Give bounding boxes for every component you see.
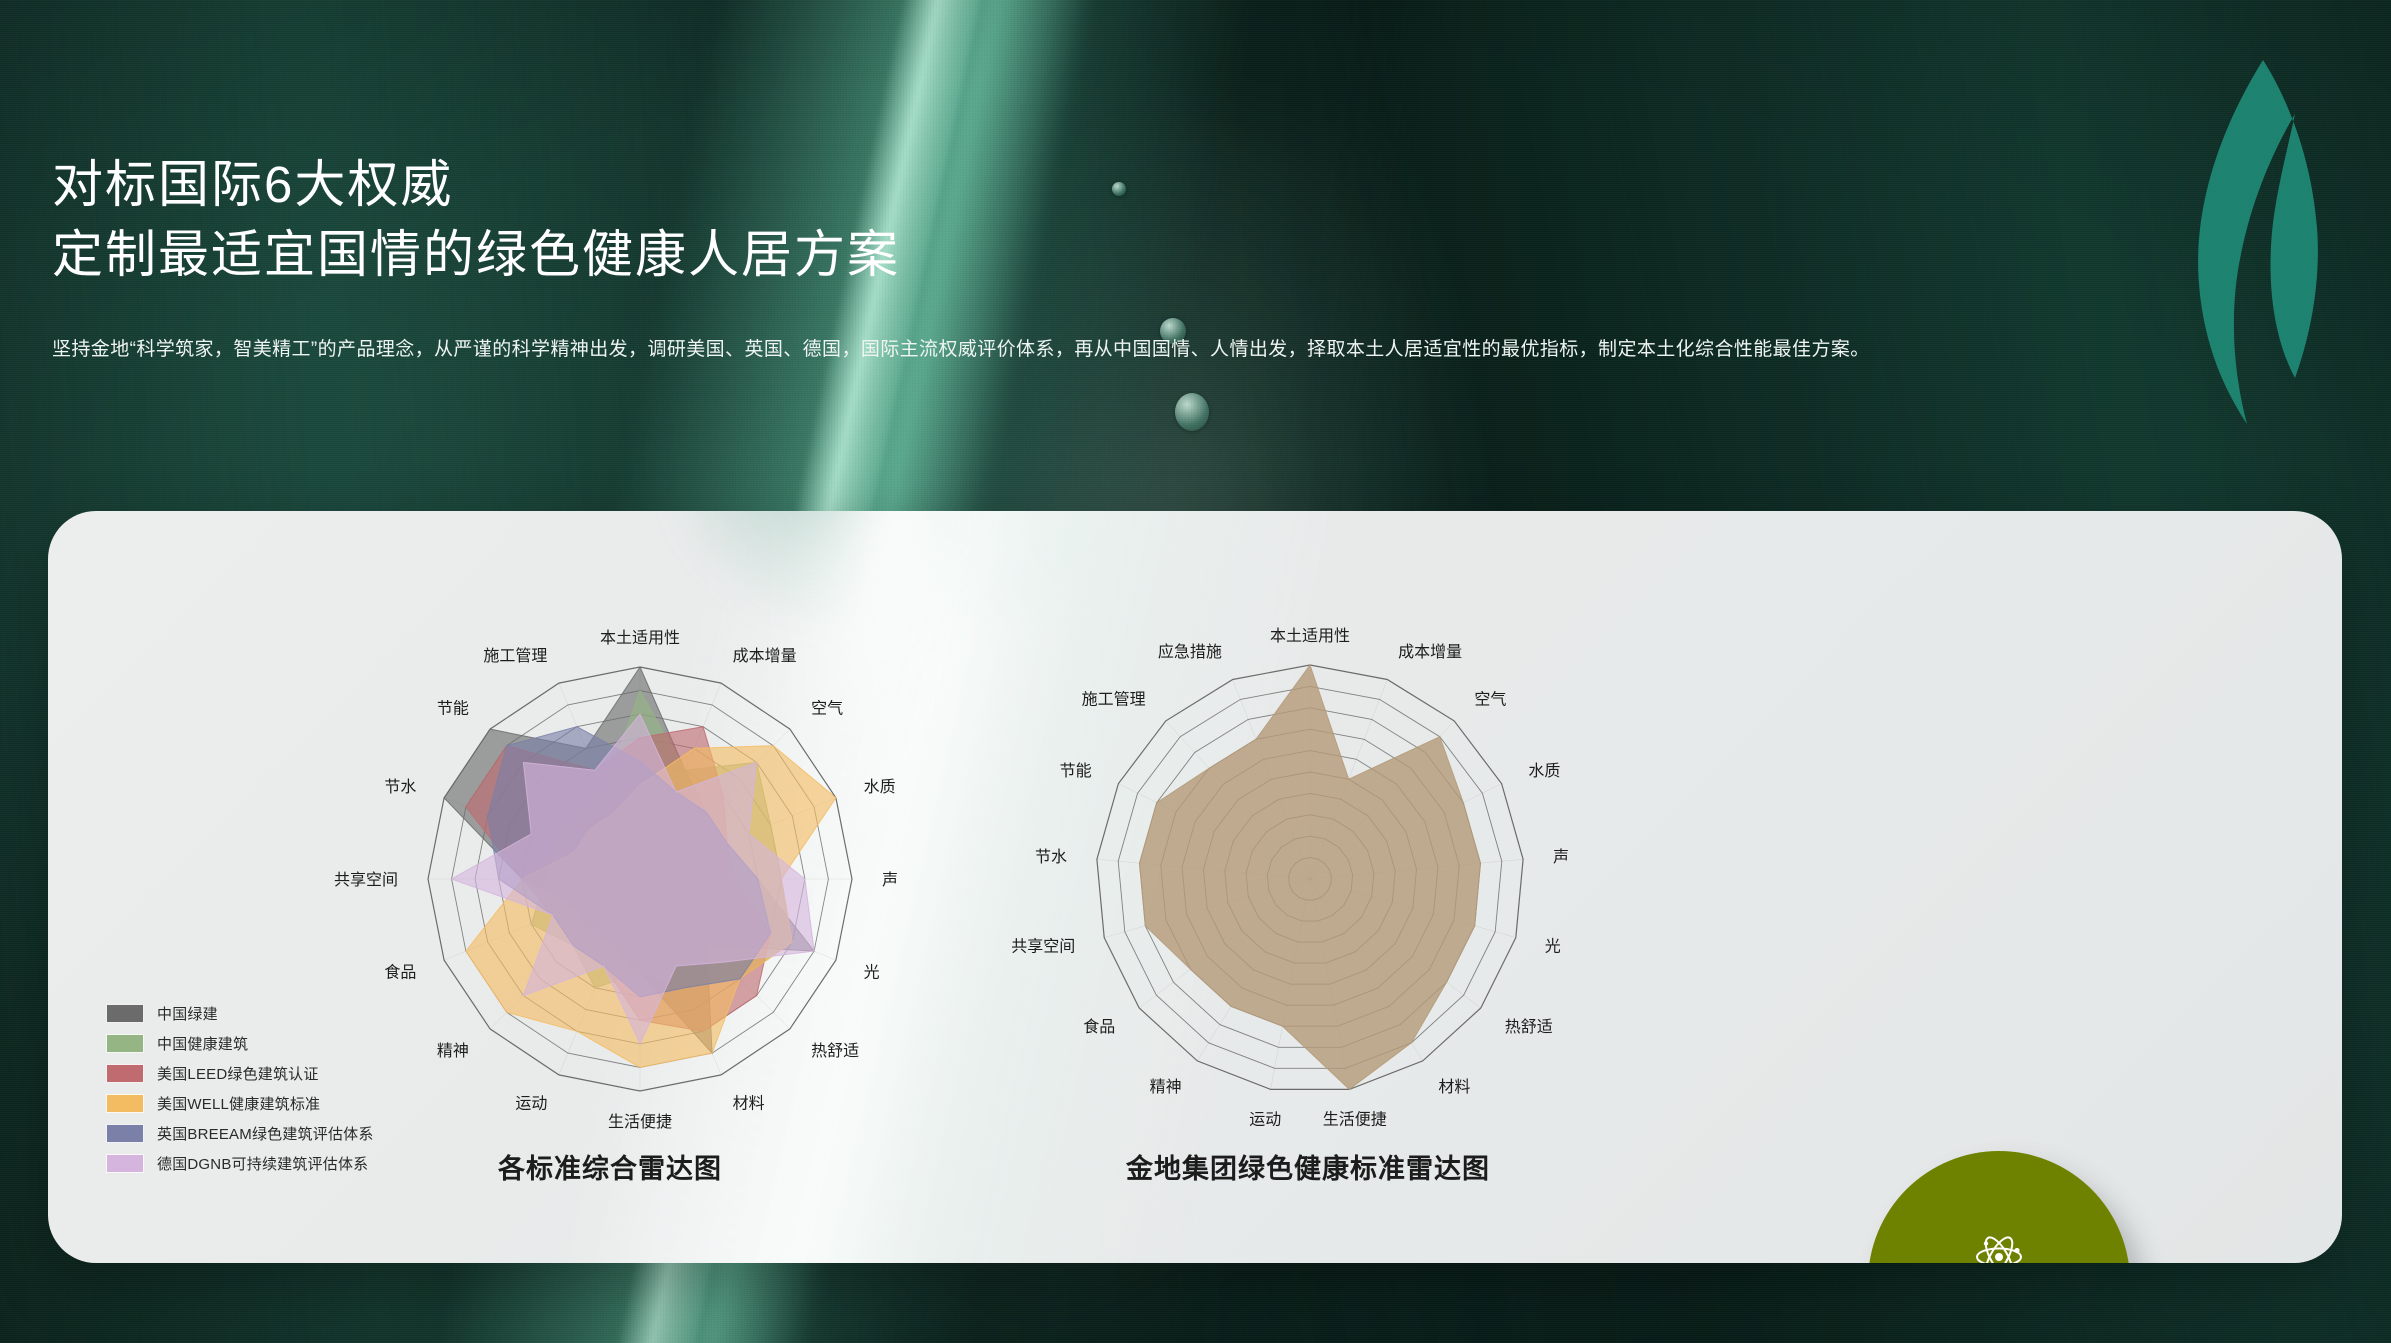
radar-axis-label: 精神 — [1150, 1078, 1182, 1096]
legend-item[interactable]: 美国LEED绿色建筑认证 — [106, 1063, 406, 1084]
radar-axis-label: 材料 — [733, 1094, 765, 1112]
chart-1-title: 各标准综合雷达图 — [498, 1147, 722, 1186]
radar-axis-label: 热舒适 — [1505, 1018, 1553, 1036]
chart-2-title: 金地集团绿色健康标准雷达图 — [1126, 1147, 1490, 1186]
radar-axis-label: 节能 — [437, 700, 469, 718]
radar-axis-label: 光 — [864, 963, 880, 981]
page-title-line2: 定制最适宜国情的绿色健康人居方案 — [52, 220, 1952, 290]
legend-item[interactable]: 中国绿建 — [106, 1003, 406, 1024]
radar-axis-label: 精神 — [437, 1042, 469, 1060]
radar-axis-label: 节能 — [1060, 762, 1092, 780]
radar-axis-label: 节水 — [384, 778, 416, 796]
legend-item[interactable]: 美国WELL健康建筑标准 — [106, 1093, 406, 1114]
radar-chart-jindi: 本土适用性成本增量空气水质声光热舒适材料生活便捷运动精神食品共享空间节水节能施工… — [930, 579, 1690, 1199]
legend-swatch — [106, 1064, 144, 1083]
radar-axis-label: 光 — [1545, 938, 1561, 956]
radar-axis-label: 空气 — [1474, 690, 1506, 708]
legend-label: 中国绿建 — [157, 1003, 218, 1024]
radar-axis-label: 本土适用性 — [1270, 627, 1350, 645]
radar-axis-label: 运动 — [1249, 1111, 1281, 1129]
atom-icon — [1972, 1230, 2026, 1263]
bubble-science-benchmark[interactable]: 科学对标 — [1868, 1151, 2130, 1263]
radar-axis-label: 食品 — [1083, 1018, 1115, 1036]
radar-axis-label: 应急措施 — [1158, 642, 1222, 661]
page-title-line1: 对标国际6大权威 — [52, 150, 1952, 220]
radar-axis-label: 食品 — [384, 963, 416, 981]
pillar-bubbles: 属地调研 指标择优 — [1720, 1151, 2280, 1263]
radar-axis-label: 节水 — [1035, 848, 1067, 866]
legend-item[interactable]: 英国BREEAM绿色建筑评估体系 — [106, 1123, 406, 1144]
content-card: 中国绿建 中国健康建筑 美国LEED绿色建筑认证 美国WELL健康建筑标准 英国… — [48, 511, 2342, 1263]
page-subtitle: 坚持金地“科学筑家，智美精工”的产品理念，从严谨的科学精神出发，调研美国、英国、… — [52, 335, 1952, 365]
legend-label: 美国WELL健康建筑标准 — [157, 1093, 320, 1114]
legend-label: 中国健康建筑 — [157, 1033, 248, 1054]
legend-item[interactable]: 德国DGNB可持续建筑评估体系 — [106, 1153, 406, 1174]
radar-axis-label: 声 — [1553, 848, 1569, 866]
radar-axis-label: 材料 — [1438, 1078, 1470, 1096]
radar-axis-label: 声 — [882, 871, 898, 889]
radar-axis-label: 空气 — [811, 700, 843, 718]
legend-label: 美国LEED绿色建筑认证 — [157, 1063, 319, 1084]
radar-axis-label: 共享空间 — [334, 871, 398, 889]
chart-legend: 中国绿建 中国健康建筑 美国LEED绿色建筑认证 美国WELL健康建筑标准 英国… — [106, 1003, 406, 1183]
radar-axis-label: 共享空间 — [1011, 938, 1075, 956]
legend-label: 英国BREEAM绿色建筑评估体系 — [157, 1123, 374, 1144]
radar-axis-label: 成本增量 — [733, 647, 797, 665]
legend-label: 德国DGNB可持续建筑评估体系 — [157, 1153, 368, 1174]
radar-axis-label: 水质 — [1528, 762, 1560, 780]
legend-swatch — [106, 1004, 144, 1023]
radar-axis-label: 施工管理 — [483, 647, 547, 665]
radar-axis-label: 施工管理 — [1082, 690, 1146, 708]
legend-item[interactable]: 中国健康建筑 — [106, 1033, 406, 1054]
legend-swatch — [106, 1124, 144, 1143]
legend-swatch — [106, 1094, 144, 1113]
radar-axis-label: 热舒适 — [811, 1042, 859, 1060]
radar-axis-label: 生活便捷 — [1323, 1111, 1387, 1129]
radar-axis-label: 水质 — [864, 778, 896, 796]
legend-swatch — [106, 1154, 144, 1173]
leaf-flame-logo — [2155, 42, 2375, 442]
radar-axis-label: 成本增量 — [1398, 643, 1462, 661]
legend-swatch — [106, 1034, 144, 1053]
radar-axis-label: 生活便捷 — [608, 1113, 672, 1131]
radar-axis-label: 本土适用性 — [600, 629, 680, 647]
radar-axis-label: 运动 — [515, 1094, 547, 1112]
header: 对标国际6大权威 定制最适宜国情的绿色健康人居方案 坚持金地“科学筑家，智美精工… — [52, 150, 1952, 365]
